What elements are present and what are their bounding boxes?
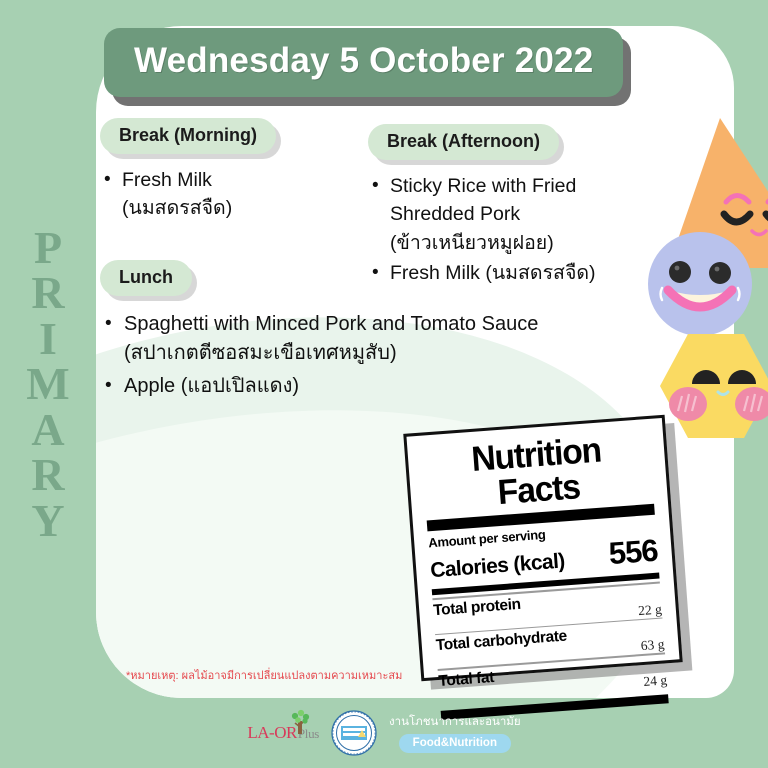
item-line: Sticky Rice with Fried <box>390 175 576 197</box>
footer-thai-text: งานโภชนาการและอนามัย <box>389 713 521 731</box>
list-item: Fresh Milk (นมสดรสจืด) <box>100 166 370 223</box>
poster-root: P R I M A R Y Wednesday 5 October 2022 <box>0 0 768 768</box>
lunch-section: Lunch Spaghetti with Minced Pork and Tom… <box>100 260 660 405</box>
item-line: Apple (แอปเปิลแดง) <box>124 375 299 397</box>
list-item: Spaghetti with Minced Pork and Tomato Sa… <box>100 310 660 368</box>
item-line: Fresh Milk <box>122 169 212 191</box>
date-banner: Wednesday 5 October 2022 <box>104 28 623 97</box>
nutrition-facts-label: Nutrition Facts Amount per serving Calor… <box>403 415 682 682</box>
primary-side-strip: P R I M A R Y <box>0 0 96 768</box>
primary-label: P R I M A R Y <box>26 225 69 544</box>
primary-letter: R <box>26 452 69 498</box>
hexagon-character-icon <box>660 330 768 442</box>
calories-label: Calories (kcal) <box>430 549 566 583</box>
section-heading-break-afternoon: Break (Afternoon) <box>368 124 559 160</box>
page-title: Wednesday 5 October 2022 <box>134 41 593 81</box>
list-item: Sticky Rice with Fried Shredded Pork (ข้… <box>368 172 668 257</box>
section-heading-lunch: Lunch <box>100 260 192 296</box>
calories-value: 556 <box>608 533 659 572</box>
item-line: Shredded Pork <box>390 200 668 228</box>
section-heading-break-morning: Break (Morning) <box>100 118 276 154</box>
footer-department: งานโภชนาการและอนามัย Food&Nutrition <box>389 713 521 753</box>
list-item: Apple (แอปเปิลแดง) <box>100 372 660 401</box>
column-left: Break (Morning) Fresh Milk (นมสดรสจืด) <box>100 118 370 225</box>
food-nutrition-badge: Food&Nutrition <box>399 734 511 753</box>
nutrition-title: Nutrition Facts <box>426 429 649 515</box>
primary-letter: M <box>26 361 69 407</box>
tree-icon <box>287 709 313 735</box>
footnote-text: *หมายเหตุ: ผลไม้อาจมีการเปลี่ยนแปลงตามคว… <box>126 666 402 684</box>
item-line-thai: (นมสดรสจืด) <box>122 194 370 222</box>
primary-letter: Y <box>26 498 69 544</box>
primary-letter: P <box>26 225 69 271</box>
primary-letter: R <box>26 270 69 316</box>
school-seal-icon <box>331 710 377 756</box>
primary-letter: A <box>26 407 69 453</box>
item-line: Spaghetti with Minced Pork and Tomato Sa… <box>124 313 538 335</box>
item-line-thai: (สปาเกตตีซอสมะเขือเทศหมูสับ) <box>124 339 660 368</box>
lunch-list: Spaghetti with Minced Pork and Tomato Sa… <box>100 310 660 401</box>
item-line-thai: (ข้าวเหนียวหมูฝอย) <box>390 229 668 257</box>
break-morning-list: Fresh Milk (นมสดรสจืด) <box>100 166 370 223</box>
footer: LA-OR Plus <box>0 698 768 768</box>
la-or-plus-logo: LA-OR Plus <box>247 723 319 743</box>
primary-letter: I <box>26 316 69 362</box>
